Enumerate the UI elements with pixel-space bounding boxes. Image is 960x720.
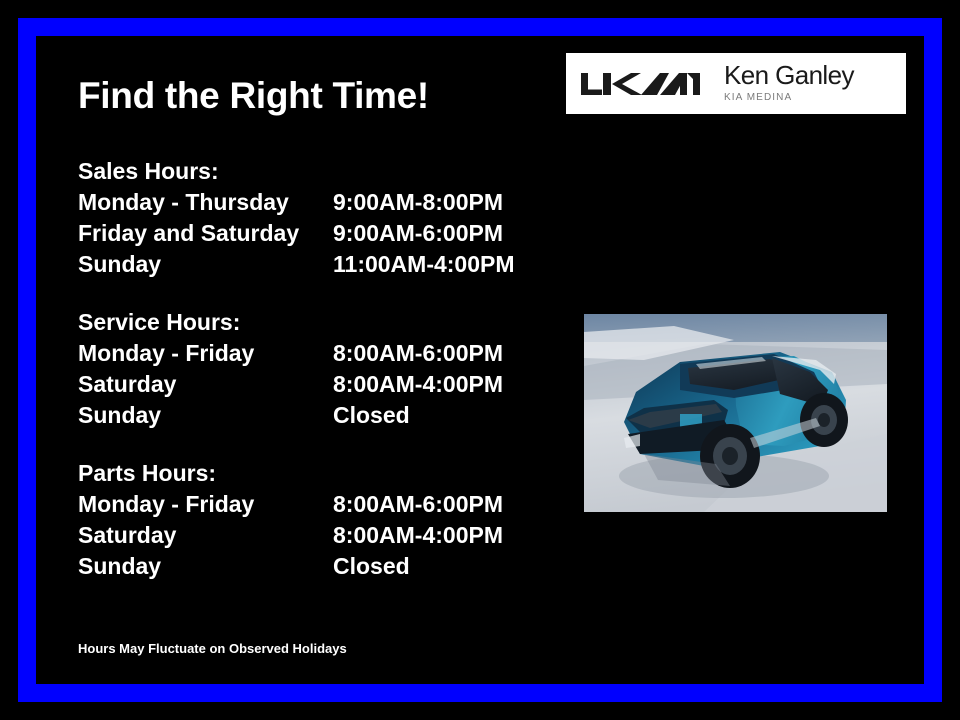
hours-time-value: 8:00AM-4:00PM: [333, 369, 503, 400]
hours-time-value: 8:00AM-6:00PM: [333, 338, 503, 369]
hours-day-label: Monday - Thursday: [78, 187, 333, 218]
hours-time-value: 8:00AM-6:00PM: [333, 489, 503, 520]
hours-row: Sunday Closed: [78, 551, 548, 582]
hours-row: Friday and Saturday 9:00AM-6:00PM: [78, 218, 548, 249]
hours-block-service: Service Hours: Monday - Friday 8:00AM-6:…: [78, 307, 548, 431]
hours-time-value: Closed: [333, 400, 410, 431]
hours-row: Monday - Friday 8:00AM-6:00PM: [78, 338, 548, 369]
section-heading: Parts Hours:: [78, 458, 548, 489]
page-title: Find the Right Time!: [78, 76, 429, 117]
hours-time-value: 9:00AM-6:00PM: [333, 218, 503, 249]
hours-block-parts: Parts Hours: Monday - Friday 8:00AM-6:00…: [78, 458, 548, 582]
hours-row: Sunday 11:00AM-4:00PM: [78, 249, 548, 280]
dealer-sublabel: KIA MEDINA: [724, 91, 854, 105]
dealer-logo-text: Ken Ganley KIA MEDINA: [724, 62, 854, 105]
hours-day-label: Sunday: [78, 400, 333, 431]
hours-time-value: 8:00AM-4:00PM: [333, 520, 503, 551]
hours-day-label: Friday and Saturday: [78, 218, 333, 249]
hours-day-label: Monday - Friday: [78, 489, 333, 520]
slide-canvas: Find the Right Time! Sales Hours: Monday…: [0, 0, 960, 720]
hours-day-label: Sunday: [78, 249, 333, 280]
hours-row: Saturday 8:00AM-4:00PM: [78, 520, 548, 551]
vehicle-illustration: [584, 314, 887, 512]
kia-ev9-vehicle-photo: [584, 314, 887, 512]
dealer-logo-lockup: Ken Ganley KIA MEDINA: [566, 53, 906, 114]
hours-block-sales: Sales Hours: Monday - Thursday 9:00AM-8:…: [78, 156, 548, 280]
hours-time-value: 11:00AM-4:00PM: [333, 249, 515, 280]
hours-day-label: Monday - Friday: [78, 338, 333, 369]
holiday-disclaimer: Hours May Fluctuate on Observed Holidays: [78, 641, 347, 656]
section-heading: Service Hours:: [78, 307, 548, 338]
dealer-name: Ken Ganley: [724, 62, 854, 89]
hours-time-value: 9:00AM-8:00PM: [333, 187, 503, 218]
hours-time-value: Closed: [333, 551, 410, 582]
hours-row: Monday - Friday 8:00AM-6:00PM: [78, 489, 548, 520]
hours-day-label: Saturday: [78, 369, 333, 400]
hours-day-label: Sunday: [78, 551, 333, 582]
section-heading: Sales Hours:: [78, 156, 548, 187]
hours-row: Monday - Thursday 9:00AM-8:00PM: [78, 187, 548, 218]
hours-row: Sunday Closed: [78, 400, 548, 431]
kia-logo-icon: [580, 69, 702, 99]
hours-row: Saturday 8:00AM-4:00PM: [78, 369, 548, 400]
hours-day-label: Saturday: [78, 520, 333, 551]
hours-list: Sales Hours: Monday - Thursday 9:00AM-8:…: [78, 156, 548, 582]
